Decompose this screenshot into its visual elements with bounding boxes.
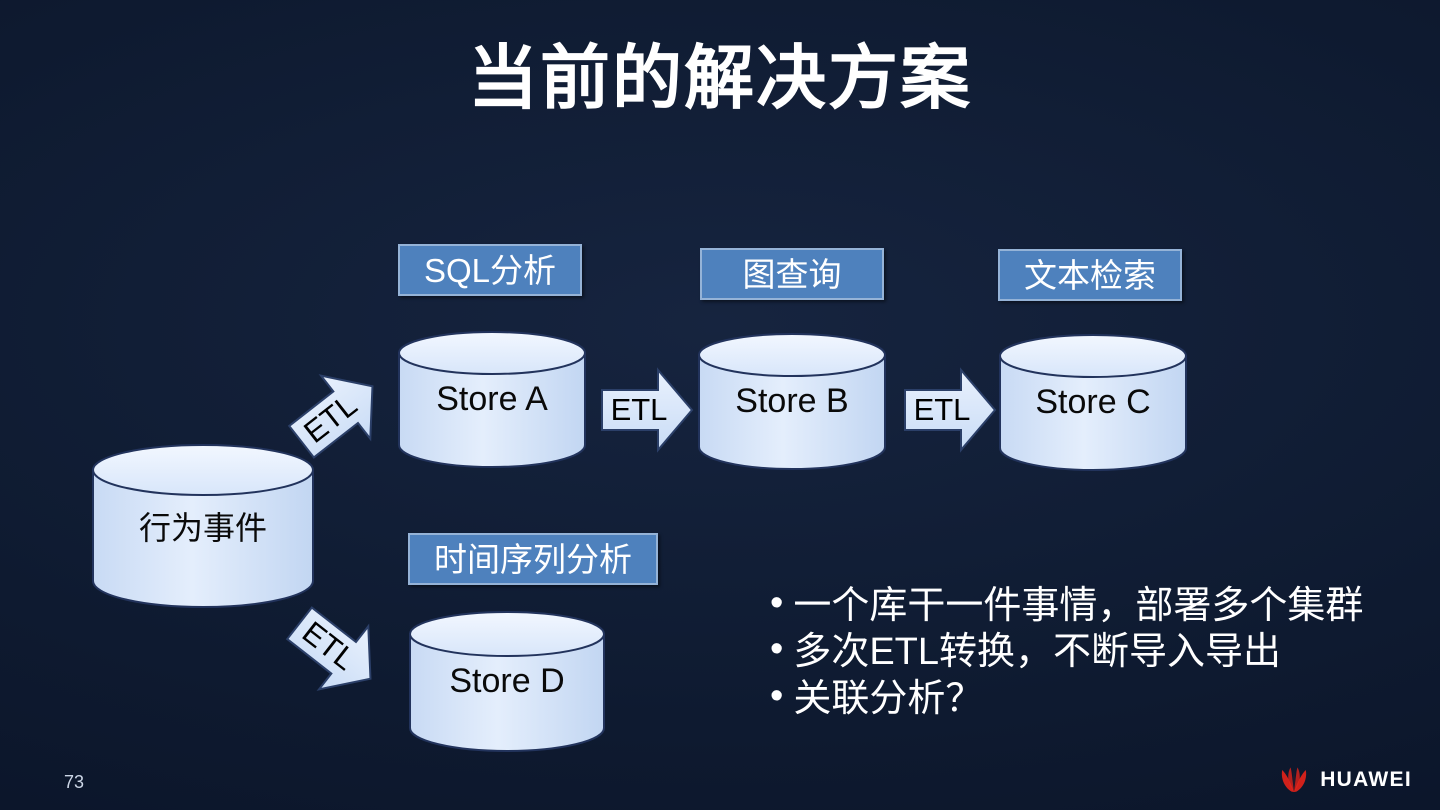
huawei-wordmark: HUAWEI <box>1320 768 1412 792</box>
label-text-search-text: 文本检索 <box>1024 259 1156 292</box>
list-item-text: 一个库干一件事情，部署多个集群 <box>793 583 1363 629</box>
store-b[interactable]: Store B <box>696 332 888 470</box>
etl-arrow-a-to-b[interactable]: ETL <box>600 368 694 452</box>
cylinder-shape <box>407 610 607 752</box>
bullet-marker: • <box>770 583 783 625</box>
store-d[interactable]: Store D <box>407 610 607 752</box>
bullet-marker: • <box>770 629 783 671</box>
label-graph-query[interactable]: 图查询 <box>700 248 884 300</box>
huawei-logo: HUAWEI <box>1277 767 1412 793</box>
store-behavior-events[interactable]: 行为事件 <box>90 443 316 608</box>
label-graph-query-text: 图查询 <box>743 258 842 291</box>
label-text-search[interactable]: 文本检索 <box>998 249 1182 301</box>
store-a[interactable]: Store A <box>396 330 588 468</box>
label-timeseries-analysis[interactable]: 时间序列分析 <box>408 533 658 585</box>
list-item: • 一个库干一件事情，部署多个集群 <box>770 583 1410 629</box>
cylinder-shape <box>696 332 888 470</box>
list-item: • 多次ETL转换，不断导入导出 <box>770 629 1410 675</box>
list-item-text: 多次ETL转换，不断导入导出 <box>793 629 1281 675</box>
block-arrow-shape <box>600 368 694 452</box>
block-arrow-shape <box>903 368 997 452</box>
label-sql-analysis-text: SQL分析 <box>424 254 556 287</box>
huawei-flower-icon <box>1277 767 1311 793</box>
slide-canvas: 当前的解决方案 SQL分析 图查询 文本检索 时间序列分析 <box>0 0 1440 810</box>
cylinder-shape <box>90 443 316 608</box>
list-item-text: 关联分析？ <box>793 676 983 722</box>
label-timeseries-analysis-text: 时间序列分析 <box>434 543 632 576</box>
page-title: 当前的解决方案 <box>0 42 1440 116</box>
label-sql-analysis[interactable]: SQL分析 <box>398 244 582 296</box>
bullet-marker: • <box>770 676 783 718</box>
store-c[interactable]: Store C <box>997 333 1189 471</box>
list-item: • 关联分析？ <box>770 676 1410 722</box>
cylinder-shape <box>997 333 1189 471</box>
page-number: 73 <box>64 772 84 793</box>
cylinder-shape <box>396 330 588 468</box>
etl-arrow-b-to-c[interactable]: ETL <box>903 368 997 452</box>
summary-bullet-list: • 一个库干一件事情，部署多个集群 • 多次ETL转换，不断导入导出 • 关联分… <box>770 583 1410 722</box>
